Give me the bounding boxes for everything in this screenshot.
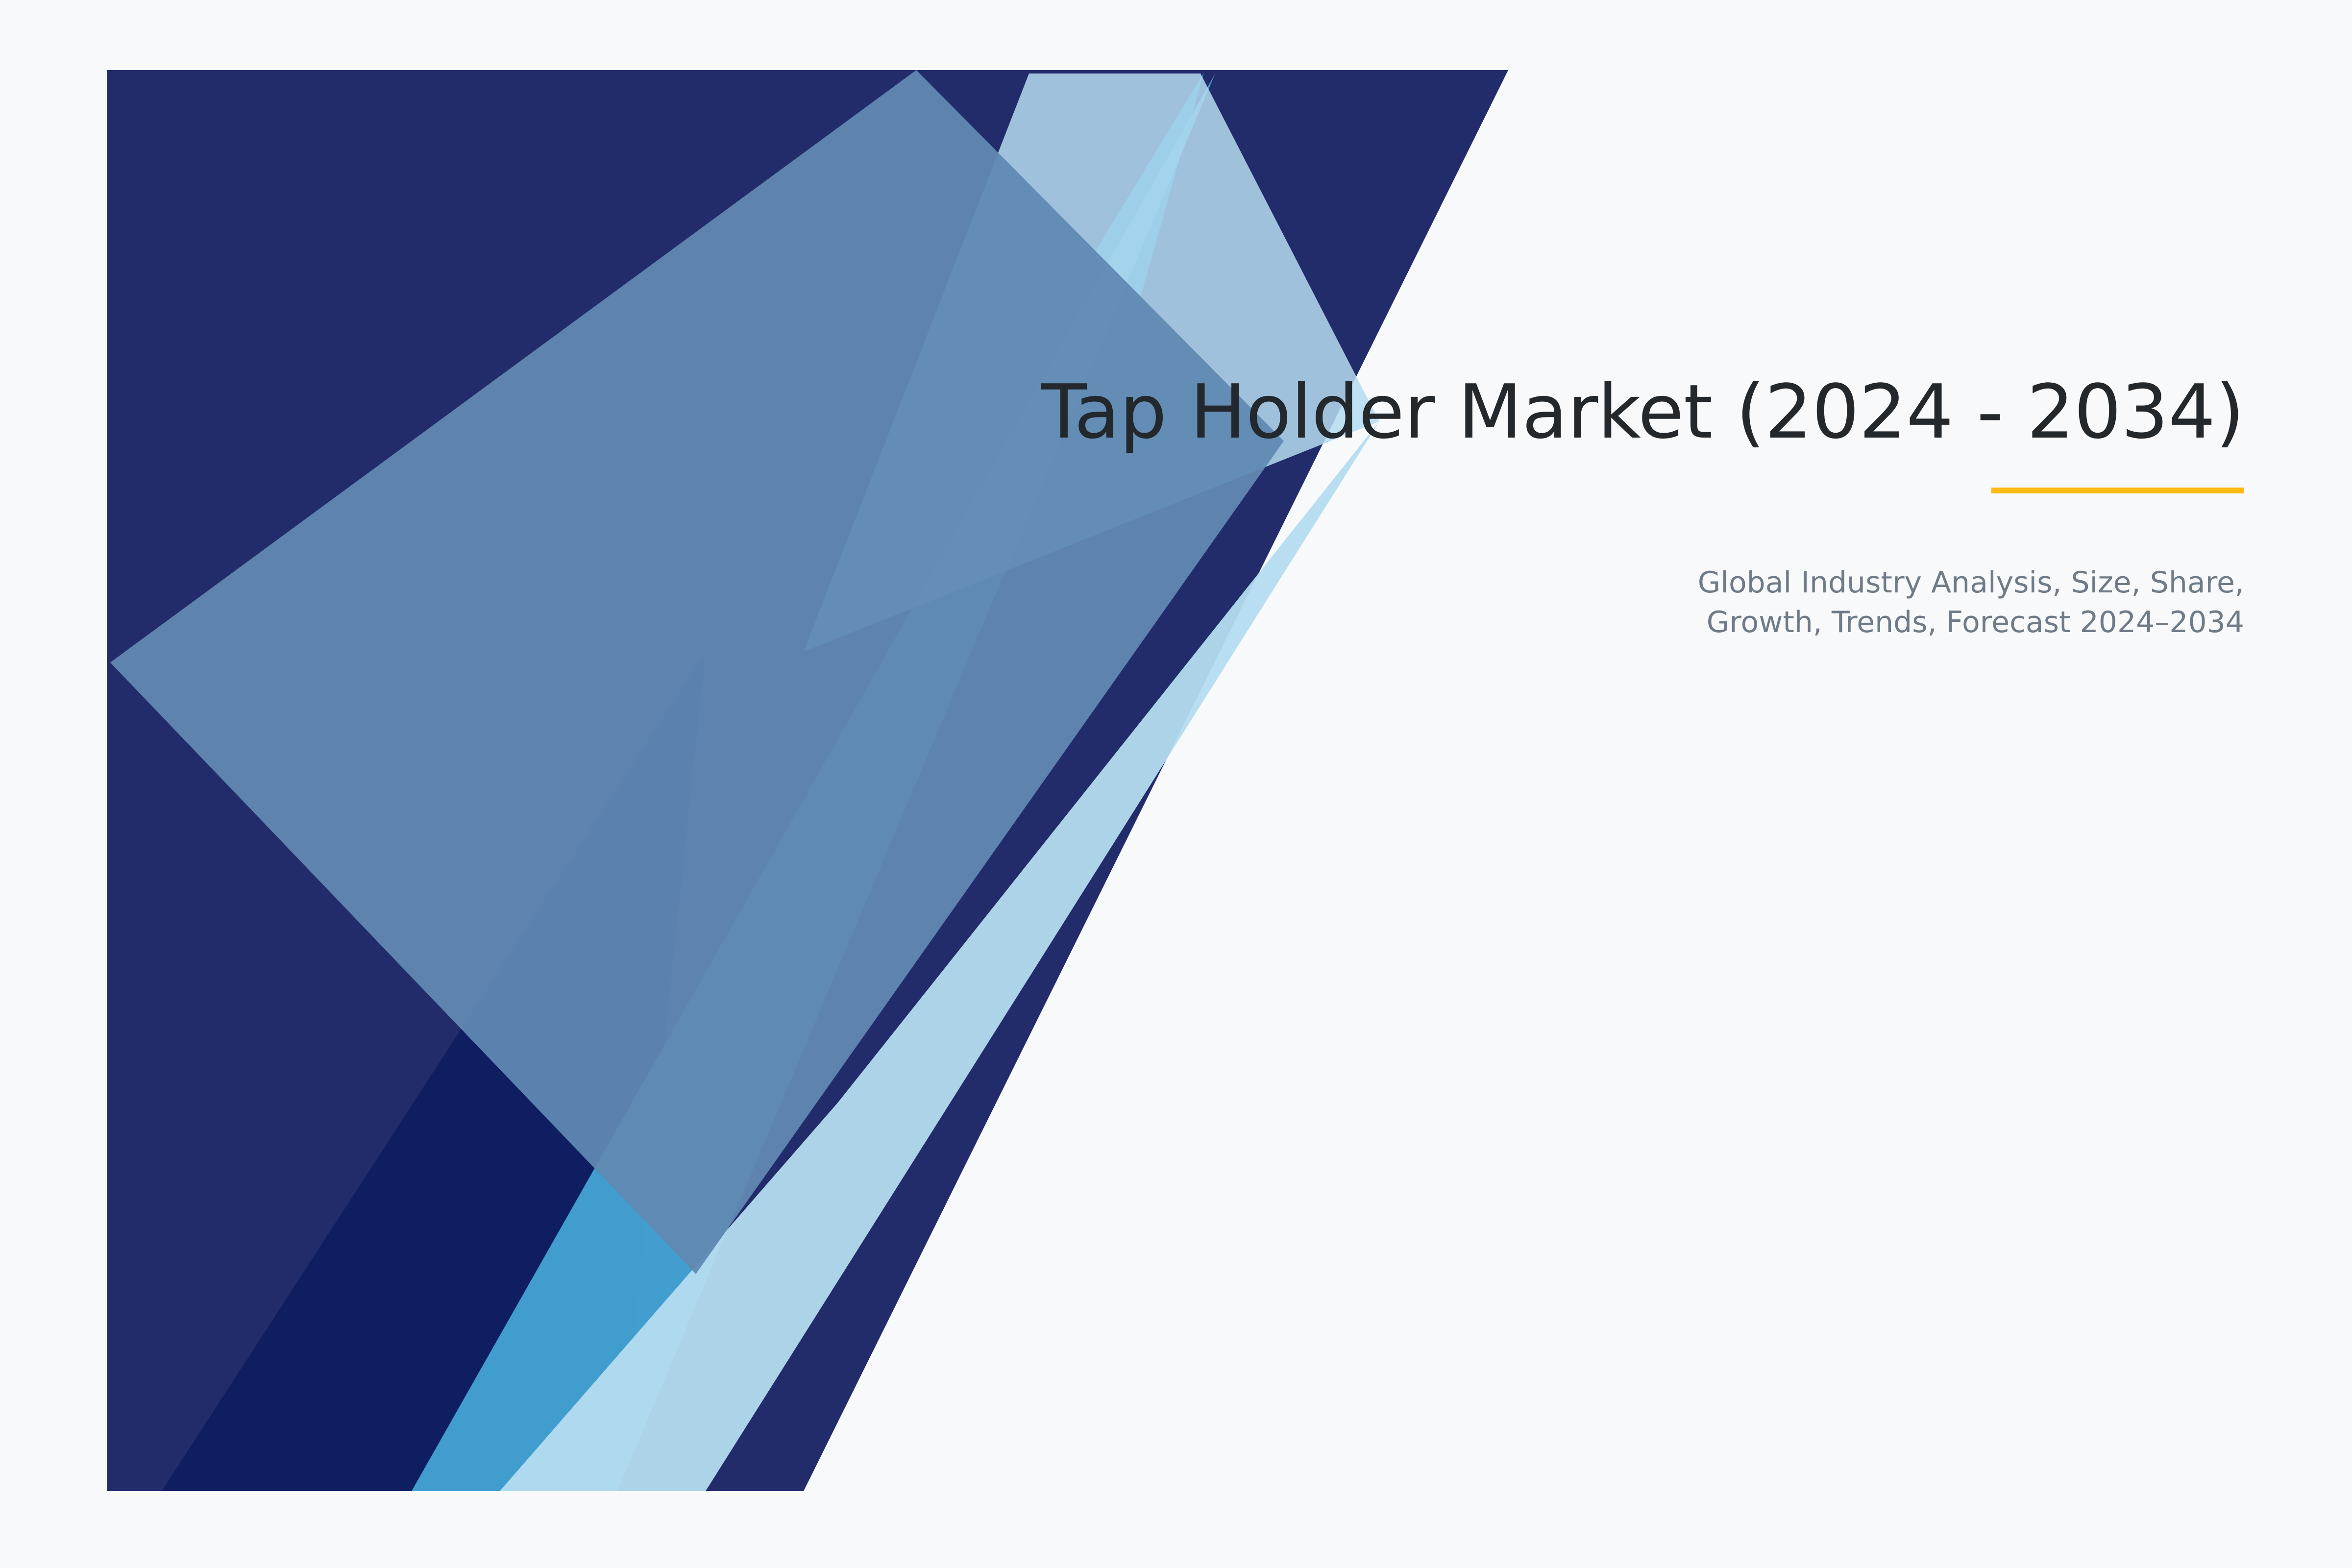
title-slide: Tap Holder Market (2024 - 2034) Global I… xyxy=(0,0,2352,1568)
bright-blue-wedge xyxy=(107,70,916,549)
title-block: Tap Holder Market (2024 - 2034) Global I… xyxy=(833,372,2244,642)
page-subtitle: Global Industry Analysis, Size, Share, G… xyxy=(1627,563,2244,642)
navy-upper-field xyxy=(107,70,1508,1491)
deep-navy-lower-wedge-2 xyxy=(412,652,706,1491)
title-rule-wrap xyxy=(833,488,2244,493)
abstract-geometric-cover-graphic xyxy=(0,0,2352,1568)
page-title: Tap Holder Market (2024 - 2034) xyxy=(833,372,2244,451)
deep-navy-lower-wedge xyxy=(162,652,706,1491)
slate-blue-quadrilateral xyxy=(110,70,1284,1274)
cyan-diagonal-band xyxy=(412,73,1215,1491)
accent-rule xyxy=(1991,488,2244,493)
